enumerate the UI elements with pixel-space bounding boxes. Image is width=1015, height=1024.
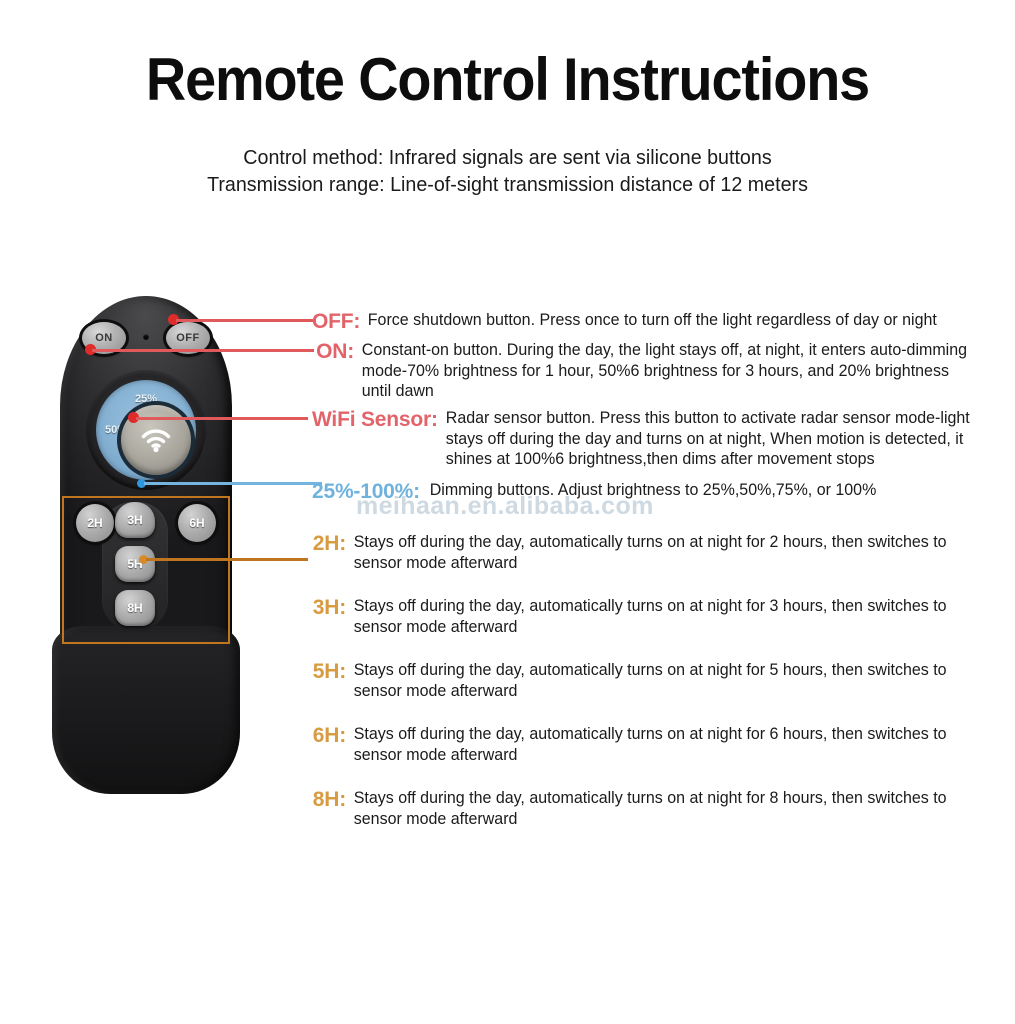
annotation-text-5h: Stays off during the day, automatically … — [346, 660, 992, 701]
connector-line-hours — [146, 558, 308, 561]
annotation-key-2h: 2H: — [312, 532, 346, 555]
annotation-key-wifi-sensor: WiFi Sensor: — [312, 408, 438, 431]
connector-line-dimming — [144, 482, 322, 485]
annotation-text-off: Force shutdown button. Press once to tur… — [360, 310, 992, 331]
annotation-key-on: ON: — [312, 340, 354, 363]
wifi-icon — [139, 427, 173, 453]
annotation-key-5h: 5H: — [312, 660, 346, 683]
annotation-5h: 5H: Stays off during the day, automatica… — [312, 660, 1012, 701]
annotation-key-off: OFF: — [312, 310, 360, 333]
annotation-3h: 3H: Stays off during the day, automatica… — [312, 596, 1012, 637]
annotation-text-8h: Stays off during the day, automatically … — [346, 788, 992, 829]
annotation-text-on: Constant-on button. During the day, the … — [354, 340, 983, 402]
dimming-pad[interactable]: 25% 50% 75% 100% — [86, 370, 206, 490]
dimming-pad-ring[interactable]: 25% 50% 75% 100% — [96, 380, 196, 480]
annotation-text-6h: Stays off during the day, automatically … — [346, 724, 992, 765]
annotation-2h: 2H: Stays off during the day, automatica… — [312, 532, 1012, 573]
annotation-text-3h: Stays off during the day, automatically … — [346, 596, 992, 637]
annotation-key-6h: 6H: — [312, 724, 346, 747]
subtitle-line-control-method: Control method: Infrared signals are sen… — [20, 144, 994, 171]
annotation-on: ON: Constant-on button. During the day, … — [312, 340, 1002, 402]
annotation-dimming: 25%-100%: Dimming buttons. Adjust bright… — [312, 480, 1012, 503]
remote-grip — [52, 626, 240, 794]
annotation-off: OFF: Force shutdown button. Press once t… — [312, 310, 1012, 333]
connector-line-on — [92, 349, 314, 352]
annotation-text-2h: Stays off during the day, automatically … — [346, 532, 992, 573]
page-title: Remote Control Instructions — [36, 48, 980, 111]
ir-led-indicator — [143, 334, 149, 340]
annotation-key-3h: 3H: — [312, 596, 346, 619]
connector-line-wifi — [136, 417, 308, 420]
annotation-key-8h: 8H: — [312, 788, 346, 811]
annotation-8h: 8H: Stays off during the day, automatica… — [312, 788, 1012, 829]
hour-buttons-highlight-box — [62, 496, 230, 644]
annotation-text-dimming: Dimming buttons. Adjust brightness to 25… — [420, 480, 994, 501]
annotation-text-wifi-sensor: Radar sensor button. Press this button t… — [438, 408, 995, 470]
annotation-wifi-sensor: WiFi Sensor: Radar sensor button. Press … — [312, 408, 1012, 470]
remote-control-illustration: ON OFF 25% 50% 75% 100% — [42, 296, 257, 796]
connector-line-off — [176, 319, 316, 322]
subtitle-block: Control method: Infrared signals are sen… — [20, 144, 994, 198]
annotation-key-dimming: 25%-100%: — [312, 480, 420, 503]
annotation-6h: 6H: Stays off during the day, automatica… — [312, 724, 1012, 765]
subtitle-line-transmission-range: Transmission range: Line-of-sight transm… — [20, 171, 994, 198]
